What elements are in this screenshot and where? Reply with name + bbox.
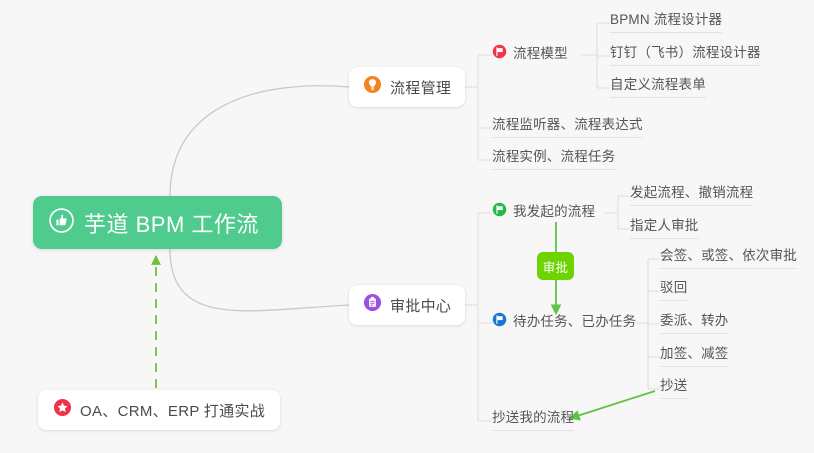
- leaf-process-model[interactable]: 流程模型: [492, 44, 568, 68]
- leaf-label: 流程模型: [513, 46, 568, 62]
- leaf-cc-to-me[interactable]: 抄送我的流程: [492, 410, 574, 431]
- thumbs-up-icon: [49, 208, 74, 238]
- leaf-assigned-approver[interactable]: 指定人审批: [630, 218, 699, 239]
- leaf-process-listener[interactable]: 流程监听器、流程表达式: [492, 117, 643, 138]
- leaf-custom-form[interactable]: 自定义流程表单: [610, 77, 706, 98]
- leaf-label: 钉钉（飞书）流程设计器: [610, 45, 761, 61]
- leaf-carbon-copy[interactable]: 抄送: [660, 378, 687, 399]
- leaf-label: 流程监听器、流程表达式: [492, 117, 643, 133]
- lightbulb-icon: [363, 75, 382, 99]
- note-integration[interactable]: OA、CRM、ERP 打通实战: [38, 390, 280, 430]
- leaf-add-remove-sign[interactable]: 加签、减签: [660, 346, 729, 367]
- leaf-label: 自定义流程表单: [610, 77, 706, 93]
- leaf-todo-done-tasks[interactable]: 待办任务、已办任务: [492, 312, 636, 336]
- leaf-process-instance[interactable]: 流程实例、流程任务: [492, 149, 615, 170]
- root-node[interactable]: 芋道 BPM 工作流: [33, 196, 282, 249]
- leaf-delegate-transfer[interactable]: 委派、转办: [660, 313, 729, 334]
- leaf-bpmn-designer[interactable]: BPMN 流程设计器: [610, 12, 722, 33]
- star-icon: [53, 398, 72, 422]
- edge-root-to-process: [170, 86, 349, 196]
- leaf-label: 待办任务、已办任务: [513, 314, 636, 330]
- root-label: 芋道 BPM 工作流: [84, 207, 259, 239]
- leaf-label: 流程实例、流程任务: [492, 149, 615, 165]
- leaf-label: 抄送: [660, 378, 687, 394]
- flag-icon: [492, 312, 507, 332]
- leaf-label: 会签、或签、依次审批: [660, 248, 797, 264]
- edge-root-to-approval: [170, 249, 349, 311]
- leaf-label: BPMN 流程设计器: [610, 12, 722, 28]
- leaf-dingtalk-designer[interactable]: 钉钉（飞书）流程设计器: [610, 45, 761, 66]
- note-label: OA、CRM、ERP 打通实战: [80, 400, 265, 421]
- leaf-label: 抄送我的流程: [492, 410, 574, 426]
- flag-icon: [492, 44, 507, 64]
- flag-icon: [492, 202, 507, 222]
- clipboard-icon: [363, 293, 382, 317]
- mindmap-canvas: 芋道 BPM 工作流 流程管理 审批中心: [0, 0, 814, 453]
- leaf-label: 委派、转办: [660, 313, 729, 329]
- leaf-start-cancel-process[interactable]: 发起流程、撤销流程: [630, 185, 753, 206]
- branch-approval-center[interactable]: 审批中心: [349, 285, 465, 325]
- leaf-my-initiated[interactable]: 我发起的流程: [492, 202, 595, 226]
- tag-label: 审批: [543, 257, 569, 276]
- leaf-countersign[interactable]: 会签、或签、依次审批: [660, 248, 797, 269]
- branch-process-label: 流程管理: [390, 77, 451, 98]
- branch-process-management[interactable]: 流程管理: [349, 67, 465, 107]
- leaf-label: 加签、减签: [660, 346, 729, 362]
- leaf-reject[interactable]: 驳回: [660, 280, 687, 301]
- tag-approval-flow[interactable]: 审批: [537, 252, 574, 280]
- leaf-label: 驳回: [660, 280, 687, 296]
- leaf-label: 指定人审批: [630, 218, 699, 234]
- arrow-cc-to-ccmine: [571, 391, 655, 418]
- branch-approval-label: 审批中心: [390, 295, 451, 316]
- leaf-label: 我发起的流程: [513, 204, 595, 220]
- leaf-label: 发起流程、撤销流程: [630, 185, 753, 201]
